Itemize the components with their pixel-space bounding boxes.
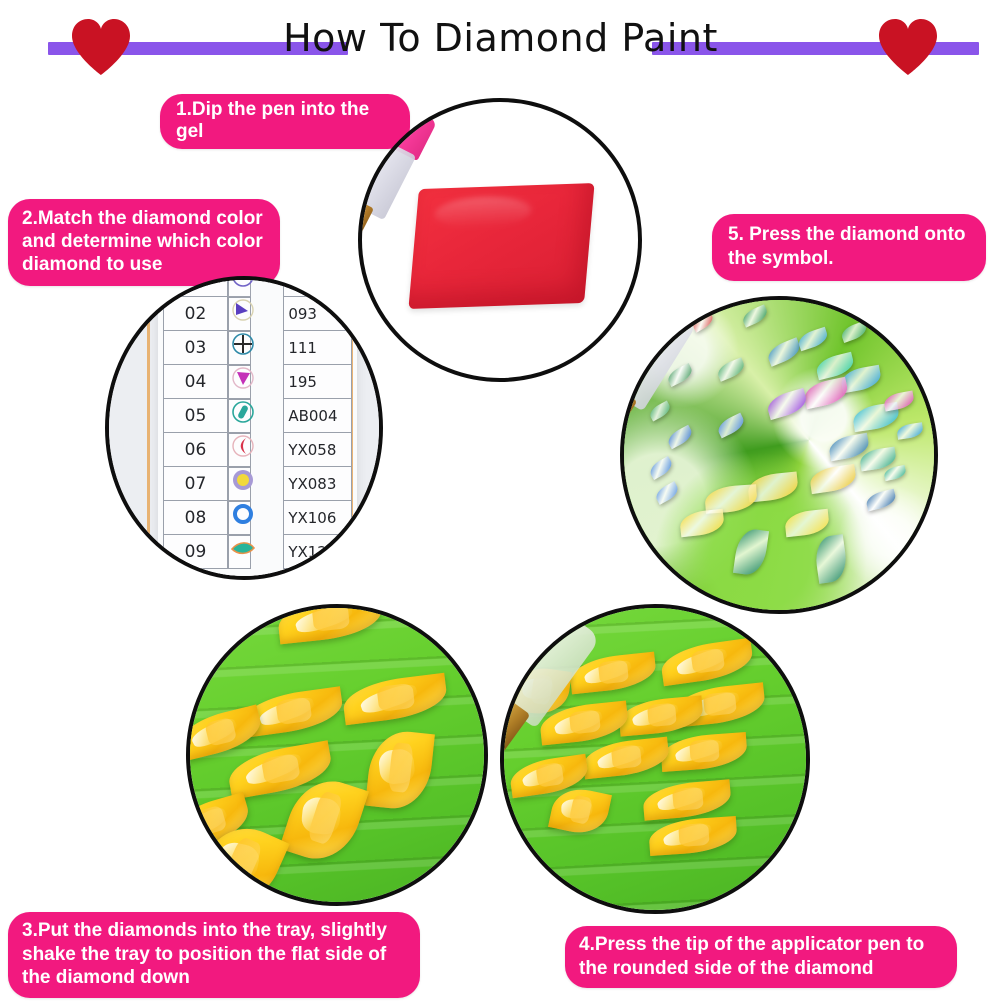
chart-cell-code: YX125 [284, 535, 352, 569]
chart-cell-code: 111 [284, 331, 352, 365]
chart-cell-code: 020 [284, 276, 352, 297]
photo-inner [504, 608, 806, 910]
chart-cell-symbol-filled-triangle [228, 297, 251, 331]
photo-inner [362, 102, 638, 378]
step-4-label: 4.Press the tip of the applicator pen to… [565, 926, 957, 988]
chart-cell-symbol-double-dot-circle [228, 276, 251, 297]
chart-cell-number: 09 [164, 535, 228, 569]
chart-cell-code: AB004 [284, 399, 352, 433]
step-5-label: 5. Press the diamond onto the symbol. [712, 214, 986, 281]
chart-cell-number: 07 [164, 467, 228, 501]
step-2-label: 2.Match the diamond color and determine … [8, 199, 280, 286]
chart-row: 09YX125 [164, 535, 352, 569]
chart-cell-code: YX058 [284, 433, 352, 467]
chart-row: 06YX058 [164, 433, 352, 467]
chart-row: 020 [164, 276, 352, 297]
gel-pad [408, 183, 594, 309]
chart-cell-symbol-filled-dot-ring [228, 467, 251, 501]
chart-cell-code: YX106 [284, 501, 352, 535]
chart-cell-symbol-left-arrow-circle [228, 433, 251, 467]
photo-inner: 02002093031110419505AB00406YX05807YX0830… [109, 280, 379, 576]
chart-row: 03111 [164, 331, 352, 365]
chart-cell-symbol-magenta-triangle [228, 365, 251, 399]
chart-cell-number: 05 [164, 399, 228, 433]
step-3-photo-diamonds-in-tray [186, 604, 488, 906]
step-5-text: 5. Press the diamond onto the symbol. [728, 223, 970, 271]
step-3-text: 3.Put the diamonds into the tray, slight… [22, 919, 406, 990]
chart-row: 08YX106 [164, 501, 352, 535]
chart-cell-symbol-leaf-shape [228, 535, 251, 569]
step-5-photo-press-onto-symbol [620, 296, 938, 614]
chart-cell-code: YX083 [284, 467, 352, 501]
chart-cell-code: 195 [284, 365, 352, 399]
chart-cell-symbol-open-ring [228, 501, 251, 535]
chart-row: 07YX083 [164, 467, 352, 501]
step-3-label: 3.Put the diamonds into the tray, slight… [8, 912, 420, 998]
chart-cell-number: 06 [164, 433, 228, 467]
color-chart-table: 02002093031110419505AB00406YX05807YX0830… [163, 276, 352, 569]
page-title: How To Diamond Paint [0, 19, 1001, 57]
chart-row: 05AB004 [164, 399, 352, 433]
chart-cell-code: 093 [284, 297, 352, 331]
chart-cell-number: 08 [164, 501, 228, 535]
chart-cell-number [164, 276, 228, 297]
step-2-text: 2.Match the diamond color and determine … [22, 207, 266, 277]
photo-inner [624, 300, 934, 610]
chart-cell-symbol-slash-in-circle [228, 399, 251, 433]
paper-edge-left [147, 276, 150, 580]
chart-cell-symbol-plus-in-circle [228, 331, 251, 365]
chart-row: 04195 [164, 365, 352, 399]
step-4-photo-pen-to-diamond [500, 604, 810, 914]
chart-cell-number: 04 [164, 365, 228, 399]
step-2-photo-color-chart: 02002093031110419505AB00406YX05807YX0830… [105, 276, 383, 580]
chart-cell-number: 03 [164, 331, 228, 365]
step-4-text: 4.Press the tip of the applicator pen to… [579, 933, 943, 980]
chart-row: 02093 [164, 297, 352, 331]
step-1-photo-pen-in-gel [358, 98, 642, 382]
infographic-page: How To Diamond Paint 1.Dip the pen into … [0, 0, 1001, 1001]
photo-inner [190, 608, 484, 902]
chart-cell-number: 02 [164, 297, 228, 331]
